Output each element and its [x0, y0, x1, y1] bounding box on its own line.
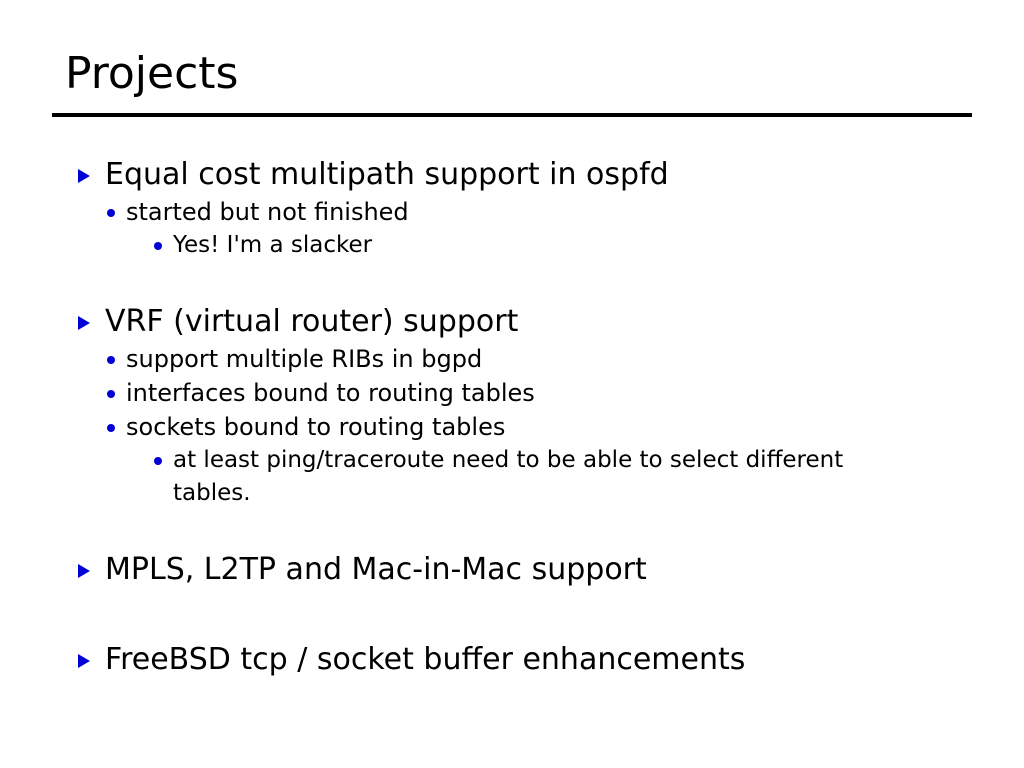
dot-bullet-icon — [107, 209, 115, 217]
bullet-level1-label: MPLS, L2TP and Mac-in-Mac support — [105, 552, 647, 587]
dot-bullet-icon — [107, 424, 115, 432]
bullet-level2-label: sockets bound to routing tables — [126, 413, 505, 441]
bullet-level2: sockets bound to routing tables — [66, 410, 986, 444]
bullet-level1-label: FreeBSD tcp / socket buffer enhancements — [105, 642, 745, 677]
group-spacer — [66, 262, 986, 302]
title-block: Projects — [52, 46, 972, 117]
bullet-level2-label: support multiple RIBs in bgpd — [126, 345, 482, 373]
bullet-level1: FreeBSD tcp / socket buffer enhancements — [66, 640, 986, 680]
group-spacer — [66, 510, 986, 550]
bullet-level2-label: started but not finished — [126, 198, 409, 226]
bullet-level3-label: at least ping/traceroute need to be able… — [173, 447, 843, 506]
bullet-list: Equal cost multipath support in ospfd st… — [66, 155, 986, 680]
page-title: Projects — [65, 46, 972, 102]
bullet-level1: VRF (virtual router) support — [66, 302, 986, 342]
dot-bullet-icon — [154, 242, 162, 250]
title-divider — [52, 113, 972, 117]
triangle-bullet-icon — [78, 564, 90, 578]
group-spacer — [66, 590, 986, 640]
bullet-level2: started but not finished — [66, 195, 986, 229]
bullet-level2: interfaces bound to routing tables — [66, 376, 986, 410]
bullet-level1-label: VRF (virtual router) support — [105, 304, 518, 339]
bullet-level1-label: Equal cost multipath support in ospfd — [105, 157, 669, 192]
bullet-level1: MPLS, L2TP and Mac-in-Mac support — [66, 550, 986, 590]
triangle-bullet-icon — [78, 169, 90, 183]
bullet-level1: Equal cost multipath support in ospfd — [66, 155, 986, 195]
bullet-level2: support multiple RIBs in bgpd — [66, 342, 986, 376]
bullet-level3-label: Yes! I'm a slacker — [173, 232, 372, 258]
slide: Projects Equal cost multipath support in… — [0, 0, 1024, 768]
bullet-level3: at least ping/traceroute need to be able… — [66, 444, 923, 510]
bullet-level3: Yes! I'm a slacker — [66, 229, 986, 262]
triangle-bullet-icon — [78, 654, 90, 668]
bullet-level2-label: interfaces bound to routing tables — [126, 379, 535, 407]
dot-bullet-icon — [154, 457, 162, 465]
dot-bullet-icon — [107, 390, 115, 398]
dot-bullet-icon — [107, 356, 115, 364]
triangle-bullet-icon — [78, 316, 90, 330]
